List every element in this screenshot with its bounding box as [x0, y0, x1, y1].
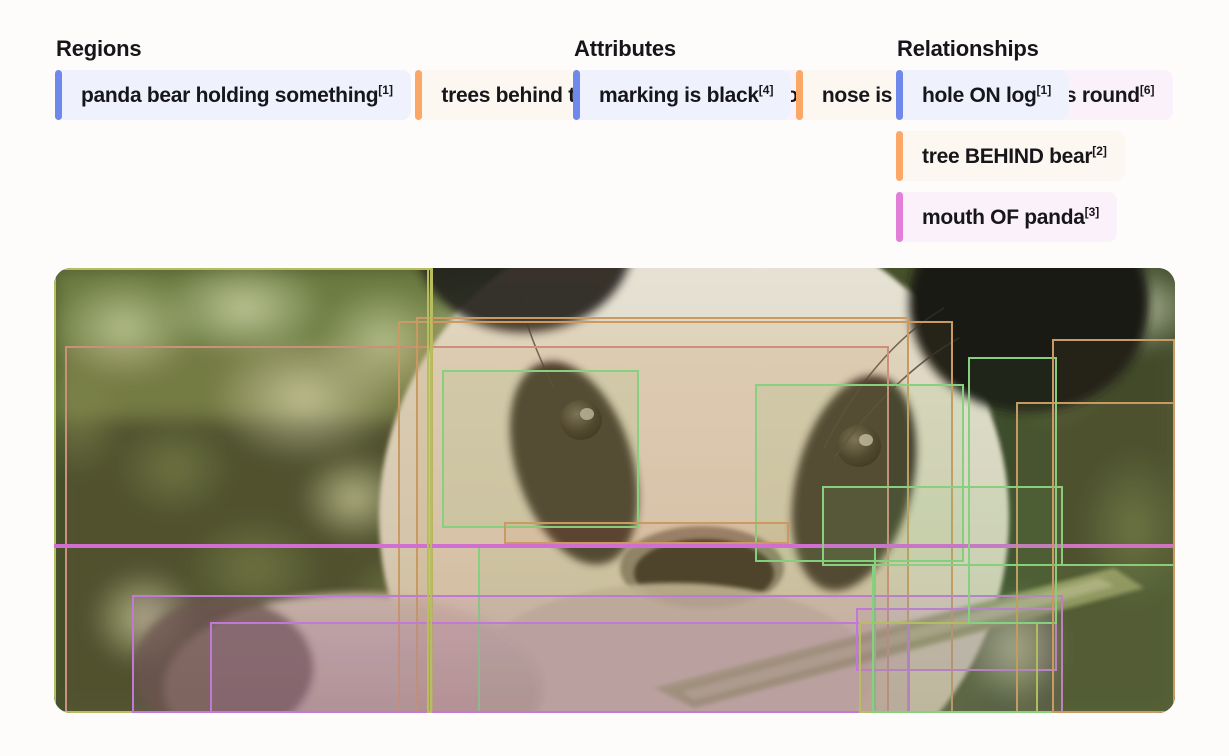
chip-regions-1[interactable]: panda bear holding something[1] [55, 70, 411, 120]
chip-ref: [3] [1085, 205, 1100, 219]
accent-bar-icon [896, 70, 903, 120]
chip-relationships-2[interactable]: tree BEHIND bear[2] [896, 131, 1125, 181]
column-title-relationships: Relationships [897, 36, 1229, 62]
chip-label: tree BEHIND bear[2] [922, 146, 1107, 167]
chip-label: panda bear holding something[1] [81, 85, 393, 106]
accent-bar-icon [896, 192, 903, 242]
chip-label: hole ON log[1] [922, 85, 1051, 106]
chip-label: marking is black[4] [599, 85, 773, 106]
chip-ref: [4] [759, 83, 774, 97]
accent-bar-icon [796, 70, 803, 120]
scene-graph-viewer: { "columns": [ { "title": "Regions", "it… [0, 0, 1229, 756]
panda-photograph [54, 268, 1175, 713]
accent-bar-icon [573, 70, 580, 120]
chip-ref: [2] [1092, 144, 1107, 158]
legend-column-relationships: Relationships hole ON log[1] tree BEHIND… [896, 36, 1229, 242]
accent-bar-icon [55, 70, 62, 120]
chip-label: mouth OF panda[3] [922, 207, 1099, 228]
chip-relationships-3[interactable]: mouth OF panda[3] [896, 192, 1117, 242]
annotation-legend: Regions panda bear holding something[1] … [0, 0, 1229, 262]
chip-ref: [1] [378, 83, 393, 97]
chip-attributes-1[interactable]: marking is black[4] [573, 70, 791, 120]
chip-relationships-1[interactable]: hole ON log[1] [896, 70, 1069, 120]
annotated-image-panel[interactable] [54, 268, 1175, 713]
chip-ref: [1] [1037, 83, 1052, 97]
accent-bar-icon [415, 70, 422, 120]
accent-bar-icon [896, 131, 903, 181]
